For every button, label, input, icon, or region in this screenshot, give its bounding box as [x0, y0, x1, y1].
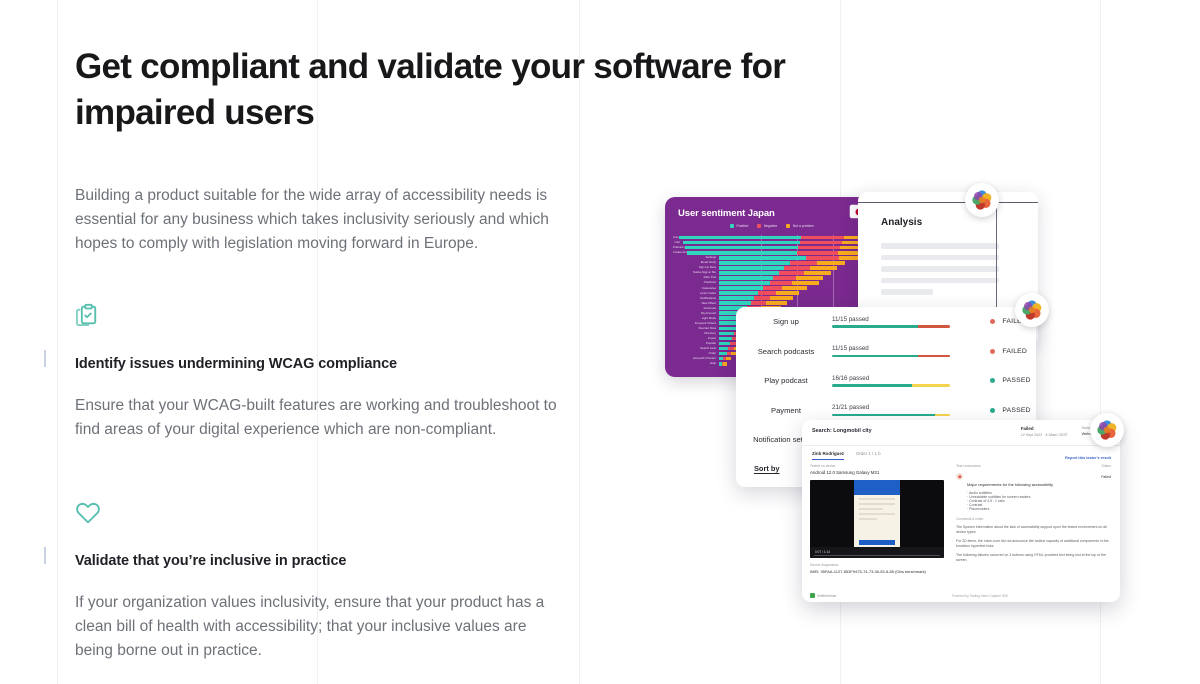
flower-logo-icon — [1021, 299, 1043, 321]
status-badge: PASSED — [990, 407, 1031, 414]
chart-bar-row: Can Profile — [673, 235, 875, 240]
chart-bar-segment — [766, 301, 787, 305]
detail-tabs: Zinb Rodriguez Order 1 / 1 b — [812, 451, 881, 460]
intro-paragraph: Building a product suitable for the wide… — [75, 184, 562, 256]
status-label: PASSED — [1002, 407, 1030, 414]
brand-logo-badge — [1015, 293, 1049, 327]
chart-bar-label: Accessib Checker — [673, 357, 719, 360]
chart-bar-label: Search Lists — [673, 347, 719, 350]
heading-accent-bar — [44, 350, 46, 367]
check-badge-icon — [810, 593, 815, 598]
detail-status: Failed 12 Sept 2022 · 4:18am CEST — [1021, 426, 1068, 437]
chart-bar-segment — [801, 236, 844, 240]
chart-bar-label: Podcast preview — [673, 246, 685, 249]
chart-bar-segment — [751, 301, 766, 305]
chart-bar-segment — [683, 241, 800, 245]
chart-bar-segment — [782, 286, 807, 290]
table-row[interactable]: Sign up11/15 passedFAILED — [736, 307, 1036, 337]
issue-bullet: · Placeholders — [967, 507, 1053, 511]
test-name: Sign up — [746, 317, 832, 326]
chart-bar-label: Directory — [673, 332, 719, 335]
chart-bar-label: Order — [673, 352, 719, 355]
device-diagnostics-value: IMEI: 35FAA-1127-853F9475-74-73.36-53-5-… — [810, 569, 944, 574]
status-badge: FAILED — [990, 348, 1027, 355]
chart-bar-segment — [719, 281, 770, 285]
chart-bar-segment — [719, 347, 728, 351]
legend-item: Negative — [757, 224, 777, 228]
test-pass-count: 11/15 passed — [832, 316, 950, 323]
progress-segment — [832, 414, 935, 417]
feature-body: If your organization values inclusivity,… — [75, 591, 562, 663]
chart-bar-segment — [810, 266, 837, 270]
chart-bar-segment — [804, 271, 831, 275]
chart-bar-row: Create Account — [673, 250, 875, 255]
feature-title: Validate that you’re inclusive in practi… — [75, 553, 575, 569]
chart-bar-row: Cart — [673, 240, 875, 245]
chart-bar-segment — [679, 236, 801, 240]
table-row[interactable]: Search podcasts11/15 passedFAILED — [736, 337, 1036, 367]
chart-bar-segment — [719, 301, 751, 305]
tester-result-detail-card: Search: Longmobil city Failed 12 Sept 20… — [802, 420, 1120, 602]
status-dot-icon — [990, 319, 995, 324]
chart-bar-label: My Account — [673, 312, 719, 315]
chart-bar-segment — [797, 251, 838, 255]
chart-bar-label: Notifications — [673, 297, 719, 300]
progress-segment — [832, 355, 918, 358]
notes-label: Comments & notes — [956, 517, 1111, 521]
chart-bar-segment — [754, 296, 770, 300]
chart-bar-row: Podcast preview — [673, 245, 875, 250]
product-screenshot-collage: User sentiment Japan Positive Negative N… — [640, 170, 1160, 640]
test-pass-count: 21/21 passed — [832, 404, 950, 411]
chart-bar-label: Email Verify — [673, 261, 719, 264]
chart-bar-segment — [773, 276, 796, 280]
chart-bar-label: Reorder Flow — [673, 327, 719, 330]
device-diagnostics-label: Device diagnostics — [810, 563, 944, 567]
chart-bar-label: Import — [673, 337, 719, 340]
test-pass-count: 16/16 passed — [832, 375, 950, 382]
chart-bar-segment — [719, 327, 736, 331]
chart-bar-label: Cart — [673, 241, 683, 244]
test-progress: 11/15 passed — [832, 316, 950, 328]
chart-bar-label: Native Sign-in Mo — [673, 271, 719, 274]
detail-right-pane: Report this tester's result Test conclus… — [952, 464, 1120, 602]
chart-bar-segment — [758, 291, 776, 295]
sort-by-button[interactable]: Sort by — [754, 464, 779, 473]
chart-bar-segment — [770, 281, 792, 285]
feature-body: Ensure that your WCAG-built features are… — [75, 394, 562, 442]
skeleton-line — [881, 255, 999, 261]
clipboard-check-icon — [75, 302, 575, 328]
divider — [858, 202, 1038, 203]
content-column: Get compliant and validate your software… — [75, 0, 575, 663]
chart-bar-segment — [719, 271, 779, 275]
note-paragraph: For 2D items, the voice-over did not ann… — [956, 539, 1111, 549]
chart-bar-segment — [719, 266, 784, 270]
chart-bar-segment — [790, 261, 818, 265]
chart-bar-segment — [719, 352, 727, 356]
chart-bar-segment — [719, 261, 790, 265]
detail-left-pane: Tested on device Android 12.0 Samsung Ga… — [802, 464, 952, 602]
chart-bar-segment — [719, 337, 732, 341]
chart-bar-label: New Offers — [673, 302, 719, 305]
tab-tester[interactable]: Zinb Rodriguez — [812, 451, 844, 460]
status-badge: Failed — [1021, 426, 1068, 431]
chart-bar-label: Light Mode — [673, 317, 719, 320]
heading-accent-bar — [44, 547, 46, 564]
issue-item: Major requirements for the following acc… — [956, 473, 1111, 511]
chart-bar-segment — [719, 276, 773, 280]
skeleton-line — [881, 278, 999, 284]
flower-logo-icon — [971, 189, 993, 211]
heart-icon — [75, 499, 575, 525]
chart-legend: Positive Negative Not a problem — [665, 224, 879, 228]
test-name: Payment — [746, 406, 832, 415]
chart-bar-label: Create Account — [673, 251, 687, 254]
session-video-player[interactable]: 0:07 / 1:14 — [810, 480, 944, 558]
legend-label: Positive — [736, 224, 748, 228]
test-name: Play podcast — [746, 376, 832, 385]
chart-bar-segment — [719, 286, 763, 290]
detail-header: Search: Longmobil city Failed 12 Sept 20… — [802, 420, 1120, 446]
chart-bar-segment — [800, 241, 842, 245]
legend-label: Negative — [764, 224, 777, 228]
sentiment-card-title: User sentiment Japan — [678, 208, 775, 219]
table-row[interactable]: Play podcast16/16 passedPASSED — [736, 366, 1036, 396]
status-label: PASSED — [1002, 377, 1030, 384]
status-column-label: Status — [1101, 464, 1111, 468]
progress-segment — [832, 384, 912, 387]
progress-bar — [832, 384, 950, 387]
chart-bar-label: Login Codes — [673, 292, 719, 295]
note-paragraph: The Spoken information about the lack of… — [956, 525, 1111, 535]
progress-segment — [918, 355, 950, 358]
chart-bar-segment — [726, 357, 731, 361]
feature-title: Identify issues undermining WCAG complia… — [75, 356, 575, 372]
legend-label: Not a problem — [793, 224, 814, 228]
skeleton-line — [881, 289, 933, 295]
chart-bar-segment — [817, 261, 845, 265]
chart-bar-segment — [685, 246, 798, 250]
progress-segment — [912, 384, 950, 387]
test-progress: 16/16 passed — [832, 375, 950, 387]
issue-column-headers: Test conclusions Status — [956, 464, 1111, 468]
video-time: 0:07 / 1:14 — [815, 550, 830, 554]
status-dot-icon — [990, 349, 995, 354]
issue-heading: Major requirements for the following acc… — [967, 482, 1053, 487]
notes-paragraphs: The Spoken information about the lack of… — [956, 525, 1111, 563]
progress-segment — [832, 325, 918, 328]
issue-status-value: Failed — [1101, 475, 1111, 479]
chart-bar-label: Categories — [673, 287, 719, 290]
conclusions-label: Test conclusions — [956, 464, 981, 468]
chart-bar-segment — [798, 246, 840, 250]
chart-bar-segment — [719, 296, 754, 300]
legend-item: Positive — [730, 224, 748, 228]
chart-bar-label: Help — [673, 362, 719, 365]
test-name: Search podcasts — [746, 347, 832, 356]
status-dot-icon — [990, 378, 995, 383]
chart-bar-label: Settings — [673, 256, 719, 259]
grid-line — [57, 0, 58, 684]
skeleton-line — [881, 243, 999, 249]
chart-bar-label: Popular — [673, 342, 719, 345]
flower-logo-icon — [1096, 419, 1118, 441]
brand-logo-badge — [965, 183, 999, 217]
status-dot-icon — [990, 408, 995, 413]
status-label: FAILED — [1002, 348, 1027, 355]
chart-bar-segment — [723, 362, 727, 366]
progress-segment — [935, 414, 950, 417]
detail-body: Tested on device Android 12.0 Samsung Ga… — [802, 464, 1120, 602]
test-progress: 11/15 passed — [832, 345, 950, 357]
report-result-button[interactable]: Report this tester's result — [1065, 456, 1111, 460]
progress-segment — [918, 325, 950, 328]
chart-bar-segment — [792, 281, 819, 285]
chart-bar-segment — [796, 276, 823, 280]
progress-bar — [832, 325, 950, 328]
chart-bar-label: Autoroute — [673, 307, 719, 310]
progress-bar — [832, 414, 950, 417]
chart-bar-segment — [687, 251, 797, 255]
brand-logo-badge — [1090, 413, 1124, 447]
chart-bar-segment — [719, 342, 730, 346]
chart-bar-label: Filter Pod — [673, 276, 719, 279]
chart-bar-segment — [719, 332, 734, 336]
chart-bar-segment — [719, 256, 806, 260]
verified-tester-label: Verified tester — [817, 594, 837, 598]
phone-frame — [854, 480, 900, 548]
skeleton-line — [881, 266, 999, 272]
analysis-card-title: Analysis — [881, 217, 1038, 228]
chart-bar-segment — [763, 286, 782, 290]
tab-order[interactable]: Order 1 / 1 b — [856, 451, 881, 460]
chart-bar-segment — [806, 256, 839, 260]
verified-tester-badge: Verified tester — [810, 593, 837, 598]
issue-bullet-list: · Audio subtitles· Unreadable subtitles … — [967, 491, 1053, 511]
tested-on-label: Tested on device — [810, 464, 944, 468]
progress-bar — [832, 355, 950, 358]
status-timestamp: 12 Sept 2022 · 4:18am CEST — [1021, 433, 1068, 437]
chart-bar-segment — [779, 271, 804, 275]
video-progress-bar[interactable] — [814, 555, 940, 556]
alert-circle-icon — [956, 473, 963, 480]
legend-item: Not a problem — [786, 224, 814, 228]
status-badge: PASSED — [990, 377, 1031, 384]
page-title: Get compliant and validate your software… — [75, 44, 835, 136]
feature-block-inclusivity: Validate that you’re inclusive in practi… — [75, 499, 575, 663]
note-paragraph: The following failures occurred on 3 but… — [956, 553, 1111, 563]
chart-bar-segment — [719, 291, 758, 295]
chart-bar-label: Sign Up Flow — [673, 266, 719, 269]
tested-on-value: Android 12.0 Samsung Galaxy M31 — [810, 470, 944, 475]
chart-bar-segment — [784, 266, 810, 270]
chart-bar-segment — [770, 296, 792, 300]
video-controls[interactable]: 0:07 / 1:14 — [810, 547, 944, 558]
chart-bar-label: Frequent Orders — [673, 322, 719, 325]
chart-bar-segment — [776, 291, 799, 295]
feature-block-compliance: Identify issues undermining WCAG complia… — [75, 302, 575, 442]
test-pass-count: 11/15 passed — [832, 345, 950, 352]
detail-title: Search: Longmobil city — [812, 428, 872, 434]
chart-bar-label: Checkout — [673, 281, 719, 284]
test-progress: 21/21 passed — [832, 404, 950, 416]
